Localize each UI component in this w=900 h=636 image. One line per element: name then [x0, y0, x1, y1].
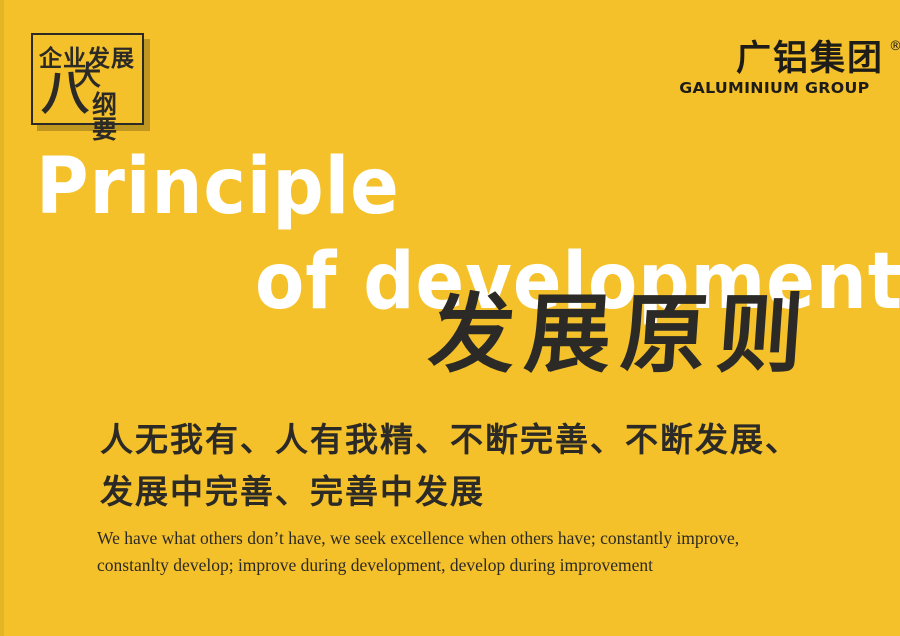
headline-line-1: Principle	[36, 148, 400, 226]
slogan-chinese-line-2: 发展中完善、完善中发展	[100, 466, 900, 518]
slogan-chinese-line-1: 人无我有、人有我精、不断完善、不断发展、	[100, 414, 900, 466]
seal-box: 企业发展 八 大 纲要	[31, 33, 144, 125]
slogan-chinese: 人无我有、人有我精、不断完善、不断发展、 发展中完善、完善中发展	[100, 414, 900, 518]
brand-name-cn: 广铝集团®	[736, 40, 884, 78]
poster-canvas: 企业发展 八 大 纲要 广铝集团® GALUMINIUM GROUP Princ…	[0, 0, 900, 636]
slogan-english: We have what others don’t have, we seek …	[97, 525, 887, 579]
brand-logo: 广铝集团® GALUMINIUM GROUP	[683, 40, 884, 97]
left-edge-strip	[0, 0, 4, 636]
seal-char-da: 大	[74, 63, 101, 90]
headline-chinese: 发展原则	[426, 292, 816, 378]
seal-char-gangyao: 纲要	[92, 92, 142, 142]
registered-trademark-icon: ®	[889, 40, 900, 53]
slogan-english-line-1: We have what others don’t have, we seek …	[97, 525, 887, 552]
slogan-english-line-2: constanlty develop; improve during devel…	[97, 552, 887, 579]
brand-name-en: GALUMINIUM GROUP	[680, 79, 870, 97]
